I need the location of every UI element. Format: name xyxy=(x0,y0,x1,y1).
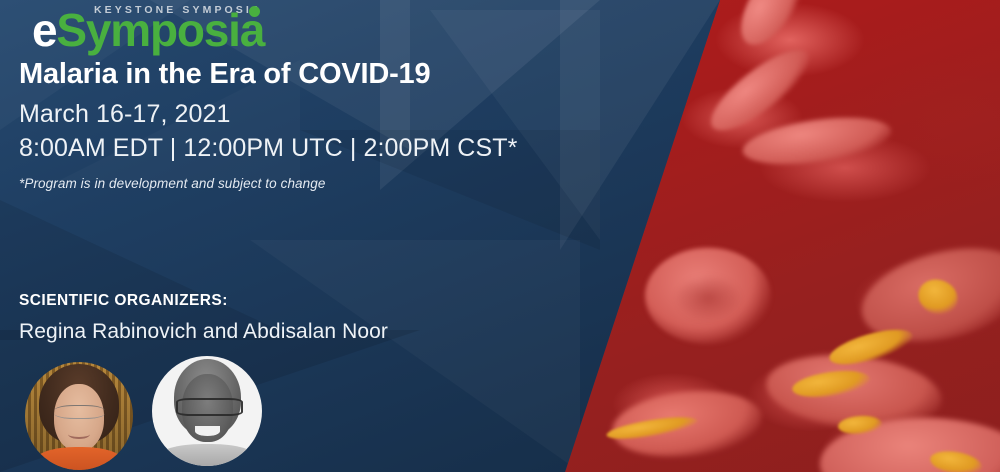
avatar-shirt xyxy=(36,447,122,470)
event-dates: March 16-17, 2021 xyxy=(19,100,231,129)
esymposia-event-banner: KEYSTONE SYMPOSIA eSymposia Malaria in t… xyxy=(0,0,1000,472)
event-title: Malaria in the Era of COVID-19 xyxy=(19,58,430,91)
logo-letter-e: e xyxy=(32,4,56,56)
avatar-shirt xyxy=(159,444,256,466)
banner-content: KEYSTONE SYMPOSIA eSymposia Malaria in t… xyxy=(0,0,600,472)
program-disclaimer: *Program is in development and subject t… xyxy=(19,176,325,191)
esymposia-wordmark: eSymposia xyxy=(32,7,264,53)
logo-word-symposia: Symposia xyxy=(56,4,264,56)
avatar xyxy=(25,362,133,470)
avatar xyxy=(152,356,262,466)
avatar-glasses-icon xyxy=(176,398,243,416)
event-times: 8:00AM EDT | 12:00PM UTC | 2:00PM CST* xyxy=(19,134,517,163)
logo-green-dot-icon xyxy=(249,6,260,17)
avatar-glasses-icon xyxy=(54,405,105,419)
avatar-smile xyxy=(68,429,90,439)
scientific-organizers-names: Regina Rabinovich and Abdisalan Noor xyxy=(19,320,388,344)
scientific-organizers-label: SCIENTIFIC ORGANIZERS: xyxy=(19,292,228,310)
